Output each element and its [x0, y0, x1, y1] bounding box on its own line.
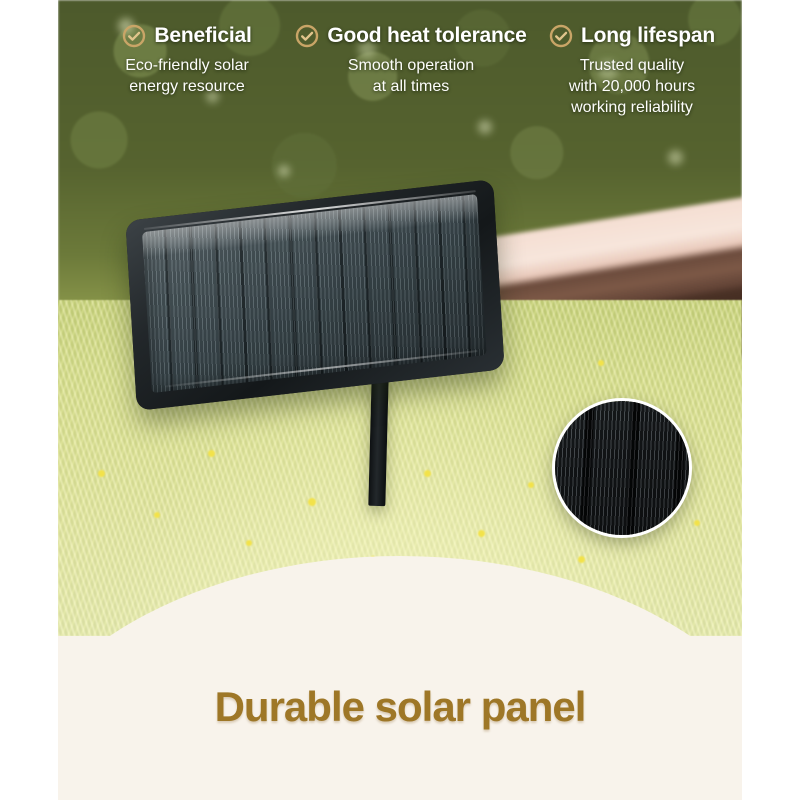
- feature-title: Long lifespan: [581, 24, 715, 48]
- panel-body: [125, 179, 504, 411]
- feature-item-long-lifespan: Long lifespan Trusted quality with 20,00…: [532, 24, 732, 144]
- flower-speck: [528, 482, 534, 488]
- feature-heading: Long lifespan: [532, 24, 732, 48]
- feature-description-line: working reliability: [532, 97, 732, 118]
- feature-title: Beneficial: [154, 24, 251, 48]
- flower-speck: [694, 520, 700, 526]
- check-circle-icon: [122, 24, 146, 48]
- panel-stake: [368, 376, 388, 506]
- flower-speck: [208, 450, 215, 457]
- feature-description-line: Smooth operation: [300, 55, 522, 76]
- feature-description: Trusted quality with 20,000 hours workin…: [532, 55, 732, 118]
- feature-description-line: at all times: [300, 76, 522, 97]
- bokeh-dot: [668, 150, 683, 165]
- flower-speck: [478, 530, 485, 537]
- feature-heading: Good heat tolerance: [300, 24, 522, 48]
- feature-description: Eco-friendly solar energy resource: [82, 55, 292, 97]
- detail-inset-cells: [552, 398, 692, 538]
- flower-speck: [578, 556, 585, 563]
- feature-description-line: Trusted quality: [532, 55, 732, 76]
- solar-panel: [130, 200, 530, 420]
- feature-description-line: Eco-friendly solar: [82, 55, 292, 76]
- flower-speck: [424, 470, 431, 477]
- detail-inset-circle: [552, 398, 692, 538]
- headline: Durable solar panel: [58, 683, 742, 731]
- feature-item-heat-tolerance: Good heat tolerance Smooth operation at …: [300, 24, 522, 144]
- feature-item-beneficial: Beneficial Eco-friendly solar energy res…: [82, 24, 292, 144]
- check-circle-icon: [549, 24, 573, 48]
- feature-description: Smooth operation at all times: [300, 55, 522, 97]
- product-feature-card: Beneficial Eco-friendly solar energy res…: [0, 0, 800, 800]
- flower-speck: [246, 540, 252, 546]
- feature-list: Beneficial Eco-friendly solar energy res…: [58, 24, 742, 144]
- flower-speck: [154, 512, 160, 518]
- feature-title: Good heat tolerance: [327, 24, 526, 48]
- flower-speck: [98, 470, 105, 477]
- bokeh-dot: [278, 165, 290, 177]
- feature-description-line: with 20,000 hours: [532, 76, 732, 97]
- feature-heading: Beneficial: [82, 24, 292, 48]
- feature-description-line: energy resource: [82, 76, 292, 97]
- flower-speck: [598, 360, 604, 366]
- check-circle-icon: [295, 24, 319, 48]
- flower-speck: [308, 498, 316, 506]
